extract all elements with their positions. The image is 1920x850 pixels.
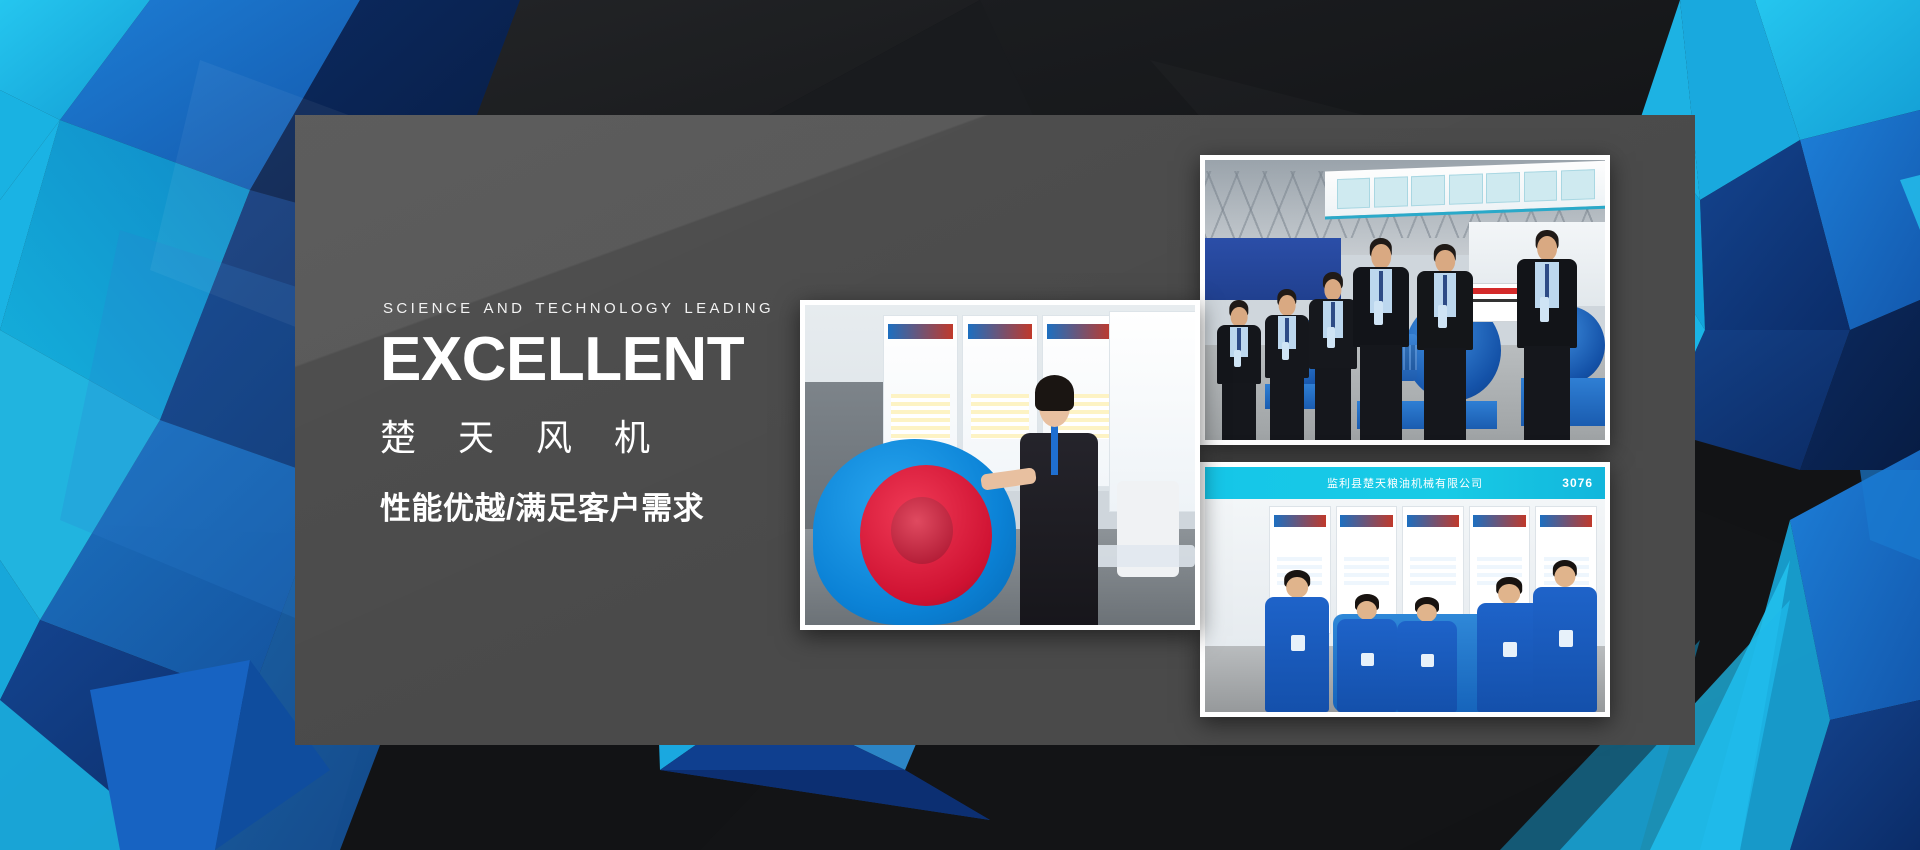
- presenter-lanyard: [1051, 423, 1059, 474]
- booth-banner: 监利县楚天粮油机械有限公司 3076: [1205, 467, 1605, 499]
- eyebrow-word-1: AND: [483, 300, 525, 317]
- polo-person-2: [1337, 594, 1397, 712]
- banner-stage: SCIENCEANDTECHNOLOGYLEADING EXCELLENT 楚天…: [0, 0, 1920, 850]
- photo-card-exhibition-team-suits: [1200, 155, 1610, 445]
- photo-image-presenter-with-fan: [805, 305, 1195, 625]
- glass-table: [1094, 545, 1195, 567]
- centrifugal-fan-impeller: [891, 497, 953, 564]
- polo-person-5: [1533, 560, 1597, 712]
- exhibition-hall-scene: [1205, 160, 1605, 440]
- person-4: [1353, 238, 1409, 440]
- person-2: [1265, 289, 1309, 440]
- eyebrow-word-0: SCIENCE: [383, 300, 473, 317]
- polo-person-4: [1477, 577, 1541, 712]
- booth-banner-text: 监利县楚天粮油机械有限公司: [1327, 475, 1483, 491]
- person-5: [1417, 244, 1473, 440]
- person-6: [1517, 230, 1577, 440]
- hall-overhead-banner: [1325, 160, 1605, 219]
- eyebrow-word-3: LEADING: [684, 300, 774, 317]
- photo-image-exhibition-team-suits: [1205, 160, 1605, 440]
- booth-number: 3076: [1562, 476, 1593, 490]
- person-1: [1217, 300, 1261, 440]
- presenter-vest: [1020, 433, 1098, 625]
- company-name-char-2: 风: [536, 417, 572, 458]
- company-name-char-0: 楚: [380, 417, 416, 458]
- company-name-char-1: 天: [458, 417, 494, 458]
- person-3: [1309, 272, 1357, 440]
- photo-card-booth-team-polos: 监利县楚天粮油机械有限公司 3076: [1200, 462, 1610, 717]
- polo-person-1: [1265, 570, 1329, 712]
- photo-image-booth-team-polos: 监利县楚天粮油机械有限公司 3076: [1205, 467, 1605, 712]
- eyebrow-word-2: TECHNOLOGY: [535, 300, 674, 317]
- photo-card-presenter-with-fan: [800, 300, 1200, 630]
- polo-person-3: [1397, 597, 1457, 712]
- presenter-hair: [1035, 375, 1074, 410]
- company-name-char-3: 机: [614, 417, 650, 458]
